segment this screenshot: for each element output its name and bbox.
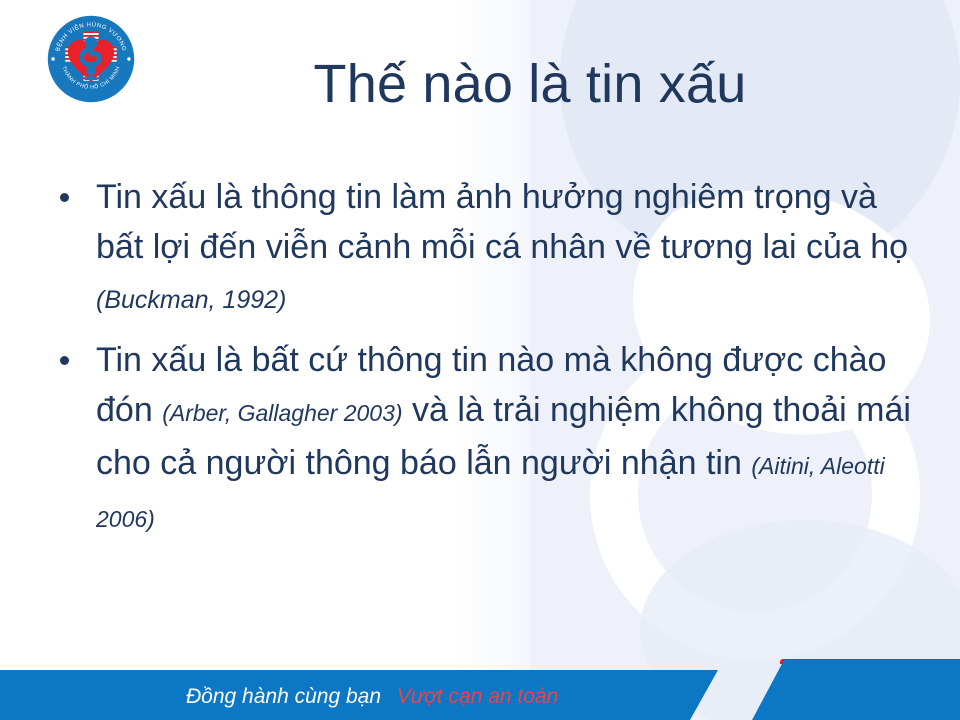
footer-tagline-accent: Vượt cạn an toàn — [397, 685, 558, 708]
bullet-2-citation-1: (Arber, Gallagher 2003) — [162, 400, 402, 426]
bullet-item-1: Tin xấu là thông tin làm ảnh hưởng nghiê… — [44, 172, 924, 325]
bullet-dot-icon — [60, 193, 69, 202]
bullet-1-text: Tin xấu là thông tin làm ảnh hưởng nghiê… — [96, 178, 908, 266]
slide-canvas: BỆNH VIỆN HÙNG VƯƠNG THÀNH PHỐ HỒ CHÍ MI… — [0, 0, 960, 720]
benh-vien-hung-vuong-logo: BỆNH VIỆN HÙNG VƯƠNG THÀNH PHỐ HỒ CHÍ MI… — [43, 11, 139, 107]
footer-bar-right — [752, 660, 960, 720]
slide-title: Thế nào là tin xấu — [180, 52, 880, 116]
footer-tagline-primary: Đồng hành cùng bạn — [186, 685, 381, 708]
bullet-dot-icon — [60, 356, 69, 365]
bullet-1-citation: (Buckman, 1992) — [96, 286, 286, 314]
slide-body: Tin xấu là thông tin làm ảnh hưởng nghiê… — [44, 172, 924, 554]
bullet-item-2: Tin xấu là bất cứ thông tin nào mà không… — [44, 335, 924, 544]
footer-tagline: Đồng hành cùng bạn Vượt cạn an toàn — [186, 682, 558, 712]
